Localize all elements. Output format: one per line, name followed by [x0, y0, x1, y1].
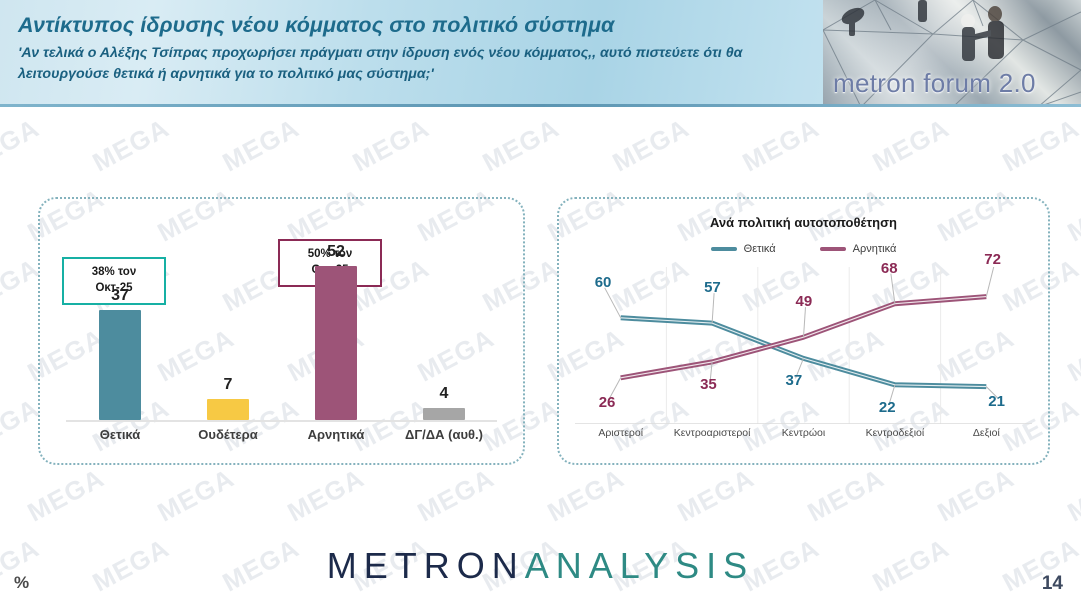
legend-swatch-icon — [820, 247, 846, 251]
bar-column: 4 — [390, 385, 498, 420]
label-leader-line — [712, 293, 714, 323]
bar-category-label: ΔΓ/ΔΑ (αυθ.) — [390, 427, 498, 442]
bar-rect — [207, 399, 249, 420]
watermark-text: MEGA — [738, 113, 825, 179]
line-chart: Ανά πολιτική αυτοτοποθέτηση Θετικά Αρνητ… — [559, 199, 1048, 463]
logo-analysis-text: ANALYSIS — [525, 545, 754, 586]
bar-column: 7 — [174, 376, 282, 420]
watermark-text: MEGA — [283, 463, 370, 529]
line-chart-panel: Ανά πολιτική αυτοτοποθέτηση Θετικά Αρνητ… — [557, 197, 1050, 465]
watermark-text: MEGA — [23, 463, 110, 529]
watermark-text: MEGA — [153, 463, 240, 529]
watermark-text: MEGA — [803, 463, 890, 529]
watermark-text: MEGA — [933, 463, 1020, 529]
legend-label: Θετικά — [744, 243, 776, 255]
header-text-block: Αντίκτυπος ίδρυσης νέου κόμματος στο πολ… — [18, 13, 808, 86]
watermark-text: MEGA — [608, 113, 695, 179]
page-title: Αντίκτυπος ίδρυσης νέου κόμματος στο πολ… — [18, 13, 808, 38]
bar-value: 52 — [282, 243, 390, 261]
data-point-label: 35 — [700, 376, 717, 393]
page-number: 14 — [1042, 573, 1063, 595]
bar-chart-baseline — [66, 420, 497, 422]
watermark-text: MEGA — [1063, 323, 1081, 389]
watermark-text: MEGA — [218, 113, 305, 179]
x-axis-label: Δεξιοί — [941, 427, 1032, 439]
watermark-text: MEGA — [88, 113, 175, 179]
series-line-inner — [621, 318, 987, 387]
metron-forum-logo-panel: metron forum 2.0 — [823, 0, 1081, 107]
data-point-label: 26 — [599, 394, 616, 411]
data-point-label: 68 — [881, 260, 898, 277]
watermark-text: MEGA — [0, 113, 44, 179]
watermark-text: MEGA — [478, 113, 565, 179]
data-point-label: 72 — [984, 251, 1001, 268]
legend-label: Αρνητικά — [853, 243, 897, 255]
bar-value: 37 — [66, 287, 174, 305]
page-subtitle: 'Αν τελικά ο Αλέξης Τσίπρας προχωρήσει π… — [18, 43, 808, 86]
watermark-text: MEGA — [673, 463, 760, 529]
watermark-text: MEGA — [1063, 183, 1081, 249]
bar-chart: 38% τον Οκτ-25 50% τον Οκτ-25 37 7 52 4 … — [40, 199, 523, 463]
bar-category-label: Θετικά — [66, 427, 174, 442]
x-axis-label: Αριστεροί — [575, 427, 666, 439]
bar-column: 37 — [66, 287, 174, 420]
callout-positive-line1: 38% τον — [68, 265, 160, 281]
x-axis-label: Κεντροαριστεροί — [666, 427, 757, 439]
bar-rect — [315, 266, 357, 420]
bar-value: 7 — [174, 376, 282, 394]
metron-forum-wordmark: metron forum 2.0 — [833, 68, 1036, 99]
logo-metron-text: METRON — [327, 545, 525, 586]
data-point-label: 37 — [786, 372, 803, 389]
data-point-label: 60 — [595, 274, 612, 291]
watermark-text: MEGA — [543, 463, 630, 529]
legend-swatch-icon — [711, 247, 737, 251]
metron-analysis-logo: METRONANALYSIS — [0, 545, 1081, 587]
bar-column: 52 — [282, 243, 390, 420]
label-leader-line — [605, 288, 621, 318]
bar-chart-panel: 38% τον Οκτ-25 50% τον Οκτ-25 37 7 52 4 … — [38, 197, 525, 465]
data-point-label: 49 — [796, 293, 813, 310]
x-axis-label: Κεντρώοι — [758, 427, 849, 439]
watermark-text: MEGA — [868, 113, 955, 179]
line-chart-legend: Θετικά Αρνητικά — [559, 243, 1048, 255]
bar-rect — [423, 408, 465, 420]
watermark-text: MEGA — [348, 113, 435, 179]
line-chart-title: Ανά πολιτική αυτοτοποθέτηση — [559, 215, 1048, 230]
label-leader-line — [804, 307, 806, 337]
bar-value: 4 — [390, 385, 498, 403]
data-point-label: 22 — [879, 399, 896, 416]
watermark-text: MEGA — [998, 113, 1081, 179]
series-line-outer — [621, 318, 987, 387]
watermark-text: MEGA — [413, 463, 500, 529]
bar-rect — [99, 310, 141, 420]
bar-category-label: Αρνητικά — [282, 427, 390, 442]
legend-item-negative: Αρνητικά — [820, 243, 897, 255]
line-chart-x-axis: Αριστεροί Κεντροαριστεροί Κεντρώοι Κεντρ… — [575, 427, 1032, 439]
data-point-label: 57 — [704, 279, 721, 296]
label-leader-line — [986, 267, 994, 297]
line-chart-svg — [575, 267, 1032, 424]
slide-header: Αντίκτυπος ίδρυσης νέου κόμματος στο πολ… — [0, 0, 1081, 107]
data-point-label: 21 — [988, 393, 1005, 410]
label-leader-line — [891, 274, 895, 304]
line-chart-plot-area: 60573722212635496872 — [575, 267, 1032, 424]
x-axis-label: Κεντροδεξιοί — [849, 427, 940, 439]
watermark-text: MEGA — [1063, 463, 1081, 529]
legend-item-positive: Θετικά — [711, 243, 776, 255]
bar-category-label: Ουδέτερα — [174, 427, 282, 442]
